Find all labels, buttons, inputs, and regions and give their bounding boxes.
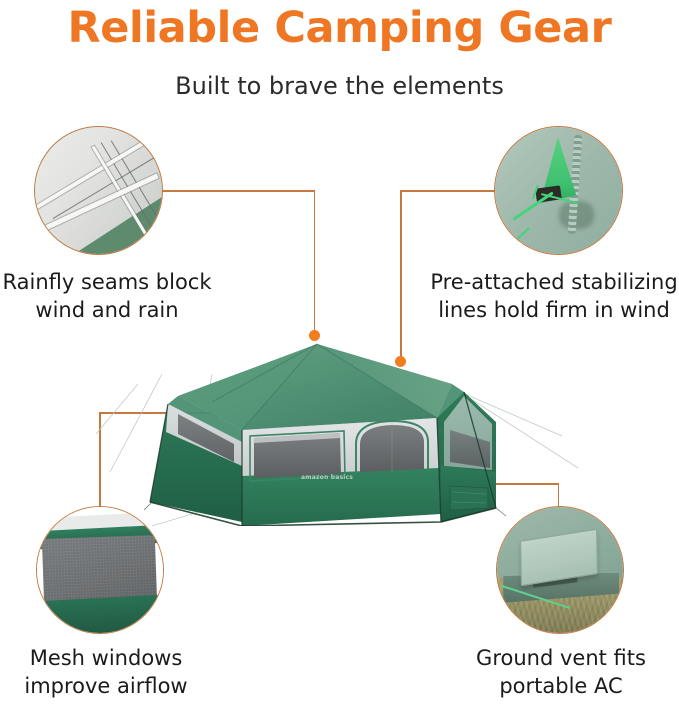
connector-line-stabilizing-horizontal xyxy=(400,190,495,192)
callout-bubble-rainfly-seams xyxy=(34,126,163,255)
connector-line-rainfly-vertical xyxy=(314,190,316,335)
callout-caption-mesh-windows: Mesh windows improve airflow xyxy=(2,644,210,700)
tent-product-illustration xyxy=(92,326,592,526)
callout-caption-stabilizing-lines: Pre-attached stabilizing lines hold firm… xyxy=(428,268,679,324)
callout-bubble-stabilizing-lines xyxy=(494,126,623,255)
callout-caption-rainfly-seams: Rainfly seams block wind and rain xyxy=(0,268,222,324)
camping-gear-infographic: Reliable Camping Gear Built to brave the… xyxy=(0,0,679,706)
connector-line-rainfly-horizontal xyxy=(161,190,315,192)
callout-bubble-ground-vent xyxy=(496,506,624,634)
guyline-attachment-closeup-image xyxy=(495,127,622,254)
callout-caption-ground-vent: Ground vent fits portable AC xyxy=(452,644,670,700)
rainfly-seam-closeup-image xyxy=(35,127,162,254)
callout-bubble-mesh-windows xyxy=(36,506,164,634)
ground-vent-closeup-image xyxy=(497,507,623,633)
mesh-window-closeup-image xyxy=(37,507,163,633)
brand-logo: amazon basics xyxy=(301,474,353,481)
page-title: Reliable Camping Gear xyxy=(0,2,679,54)
page-subtitle: Built to brave the elements xyxy=(0,70,679,102)
